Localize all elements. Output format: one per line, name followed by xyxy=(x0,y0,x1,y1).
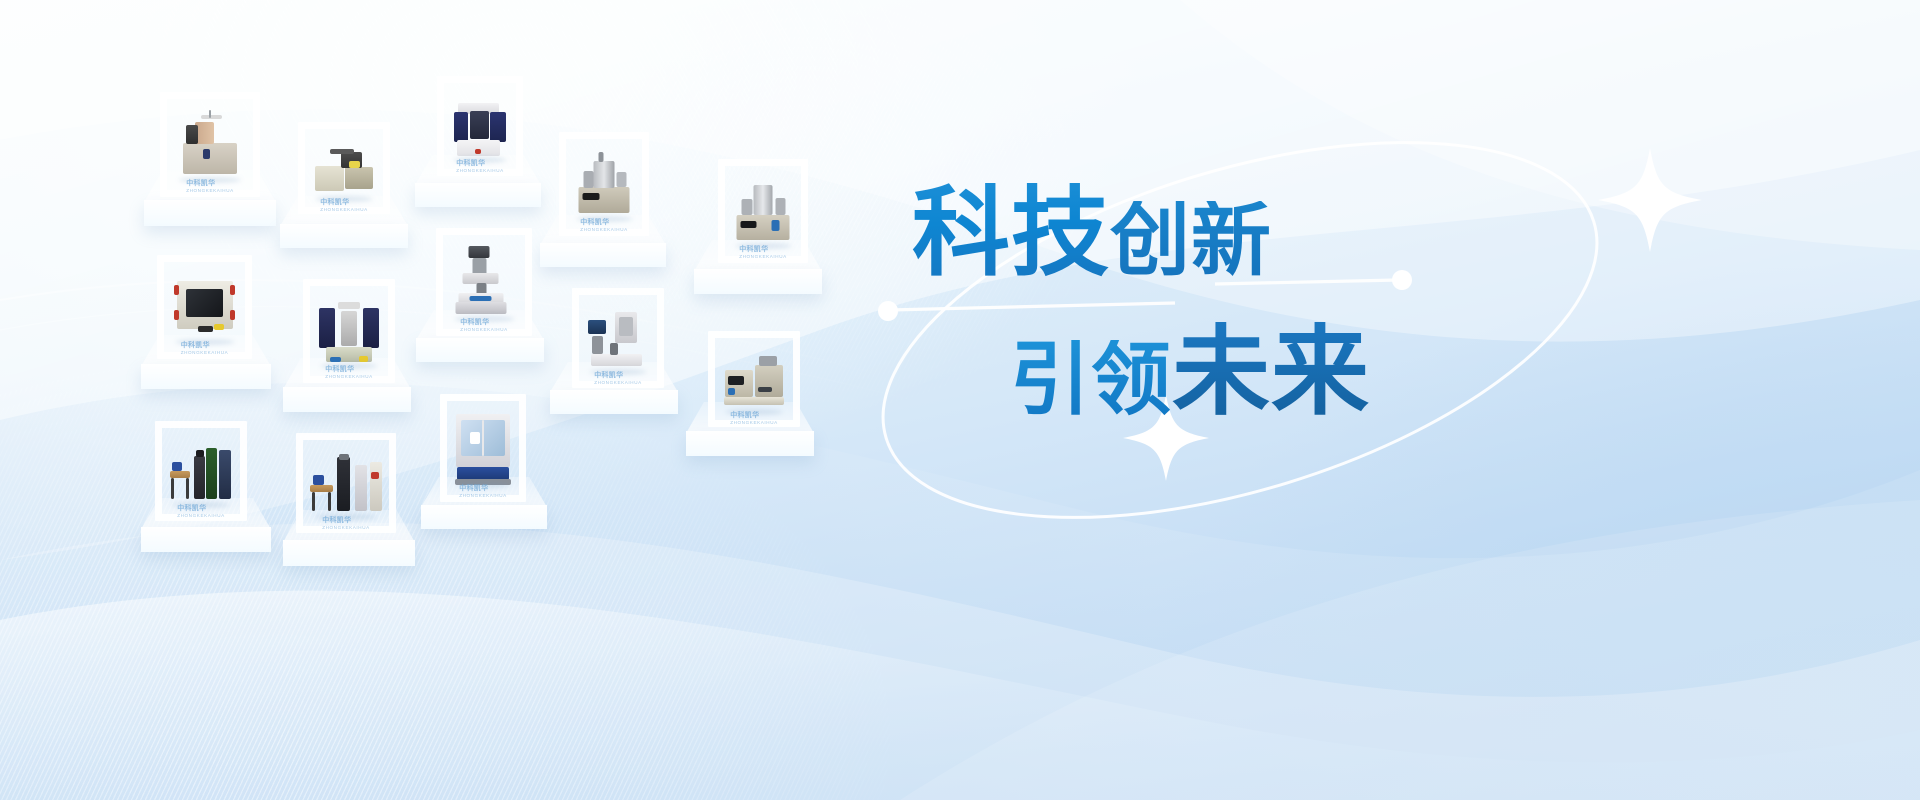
instrument-part xyxy=(599,152,604,162)
instrument-part xyxy=(592,336,603,354)
product-card-friction-wear-tester[interactable]: 中科凯华ZHONGKEKAIHUA xyxy=(437,76,523,176)
instrument-part xyxy=(758,387,772,392)
instrument-part xyxy=(194,456,205,499)
instrument-part xyxy=(186,478,189,499)
instrument-part xyxy=(610,343,618,356)
instrument-part xyxy=(203,149,210,159)
instrument-part xyxy=(456,302,507,314)
headline-line2-strong: 未来 xyxy=(1172,322,1370,420)
instrument-part xyxy=(230,285,236,295)
instrument-part xyxy=(312,492,315,512)
product-card-magnetron-sputtering-system[interactable]: 中科凯华ZHONGKEKAIHUA xyxy=(559,132,649,236)
product-image-friction-wear-tester: 中科凯华ZHONGKEKAIHUA xyxy=(448,90,512,160)
product-card-vacuum-glove-box[interactable]: 中科凯华ZHONGKEKAIHUA xyxy=(440,394,526,502)
instrument-part xyxy=(219,450,231,499)
instrument-part xyxy=(482,420,485,456)
instrument-part xyxy=(195,122,214,144)
product-card-fatigue-testing-system[interactable]: 中科凯华ZHONGKEKAIHUA xyxy=(708,331,800,427)
headline-line-2: 引领 未来 xyxy=(1010,322,1370,420)
instrument-part xyxy=(470,111,489,139)
instrument-part xyxy=(588,320,606,334)
instrument-part xyxy=(759,356,777,367)
instrument-part xyxy=(337,457,350,512)
product-image-environmental-test-chamber: 中科凯华ZHONGKEKAIHUA xyxy=(170,269,240,342)
product-card-thin-film-deposition-unit[interactable]: 中科凯华ZHONGKEKAIHUA xyxy=(718,159,808,263)
instrument-part xyxy=(201,115,222,119)
instrument-part xyxy=(363,308,379,349)
product-watermark: 中科凯华ZHONGKEKAIHUA xyxy=(320,197,368,212)
instrument-part xyxy=(341,311,357,346)
instrument-part xyxy=(174,310,180,320)
instrument-part xyxy=(591,354,643,367)
instrument-part xyxy=(198,326,213,332)
pedestal-face xyxy=(280,224,408,248)
instrument-part xyxy=(454,112,468,141)
instrument-part xyxy=(319,308,335,349)
pedestal-face xyxy=(144,200,276,226)
instrument-part xyxy=(728,388,735,395)
instrument-part xyxy=(170,471,190,478)
product-card-optical-microscope-station[interactable]: 中科凯华ZHONGKEKAIHUA xyxy=(436,228,532,336)
instrument-part xyxy=(196,450,204,457)
headline-line1-light: 创新 xyxy=(1110,201,1272,281)
product-card-universal-testing-machine[interactable]: 中科凯华ZHONGKEKAIHUA xyxy=(303,279,395,383)
instrument-part xyxy=(172,462,182,472)
pedestal-face xyxy=(416,338,544,362)
product-watermark: 中科凯华ZHONGKEKAIHUA xyxy=(580,217,628,232)
product-image-laboratory-workstation-a: 中科凯华ZHONGKEKAIHUA xyxy=(167,435,235,505)
instrument-part xyxy=(584,171,593,189)
instrument-part xyxy=(470,296,491,301)
product-watermark: 中科凯华ZHONGKEKAIHUA xyxy=(181,340,229,355)
product-image-thin-film-deposition-unit: 中科凯华ZHONGKEKAIHUA xyxy=(730,173,797,246)
headline-line1-strong: 科技 xyxy=(912,183,1110,281)
headline-line-1: 科技 创新 xyxy=(912,183,1272,281)
instrument-part xyxy=(171,478,174,499)
instrument-part xyxy=(206,448,217,500)
pedestal-face xyxy=(540,243,666,267)
product-image-vacuum-coating-machine: 中科凯华ZHONGKEKAIHUA xyxy=(173,106,247,180)
instrument-part xyxy=(593,161,614,189)
pedestal-face xyxy=(550,390,678,414)
product-watermark: 中科凯华ZHONGKEKAIHUA xyxy=(186,178,234,193)
product-card-scratch-test-instrument[interactable]: 中科凯华ZHONGKEKAIHUA xyxy=(572,288,664,388)
product-watermark: 中科凯华ZHONGKEKAIHUA xyxy=(594,370,642,385)
product-watermark: 中科凯华ZHONGKEKAIHUA xyxy=(459,483,507,498)
instrument-part xyxy=(214,324,224,330)
pedestal-face xyxy=(283,540,415,566)
instrument-part xyxy=(740,221,756,228)
product-card-laboratory-workstation-a[interactable]: 中科凯华ZHONGKEKAIHUA xyxy=(155,421,247,521)
instrument-part xyxy=(183,143,236,174)
instrument-part xyxy=(328,492,331,512)
instrument-part xyxy=(754,185,773,216)
instrument-part xyxy=(616,172,627,187)
instrument-part xyxy=(724,397,784,405)
instrument-part xyxy=(359,356,369,362)
instrument-part xyxy=(742,199,753,215)
product-image-micro-hardness-tester: 中科凯华ZHONGKEKAIHUA xyxy=(310,135,378,199)
product-image-scratch-test-instrument: 中科凯华ZHONGKEKAIHUA xyxy=(584,302,652,372)
instrument-part xyxy=(174,285,180,295)
instrument-part xyxy=(330,357,341,361)
instrument-part xyxy=(186,289,222,317)
instrument-part xyxy=(371,472,378,479)
instrument-part xyxy=(755,365,782,397)
product-card-micro-hardness-tester[interactable]: 中科凯华ZHONGKEKAIHUA xyxy=(298,122,390,214)
product-image-vacuum-glove-box: 中科凯华ZHONGKEKAIHUA xyxy=(451,409,515,485)
pedestal-face xyxy=(686,431,814,456)
instrument-part xyxy=(775,198,786,216)
instrument-part xyxy=(728,376,744,385)
instrument-part xyxy=(355,465,367,511)
instrument-part xyxy=(349,161,360,169)
headline-line2-light: 引领 xyxy=(1010,340,1172,420)
product-watermark: 中科凯华ZHONGKEKAIHUA xyxy=(322,515,370,530)
product-card-laboratory-workstation-b[interactable]: 中科凯华ZHONGKEKAIHUA xyxy=(296,433,396,533)
instrument-part xyxy=(771,220,779,232)
instrument-part xyxy=(490,112,505,141)
instrument-part xyxy=(370,462,382,511)
product-watermark: 中科凯华ZHONGKEKAIHUA xyxy=(456,158,504,173)
product-card-environmental-test-chamber[interactable]: 中科凯华ZHONGKEKAIHUA xyxy=(157,255,252,359)
instrument-part xyxy=(619,317,633,335)
instrument-part xyxy=(315,166,344,192)
product-image-universal-testing-machine: 中科凯华ZHONGKEKAIHUA xyxy=(315,293,383,366)
product-image-laboratory-workstation-b: 中科凯华ZHONGKEKAIHUA xyxy=(309,447,383,517)
product-watermark: 中科凯华ZHONGKEKAIHUA xyxy=(730,410,778,425)
pedestal-face xyxy=(141,364,271,389)
instrument-part xyxy=(186,125,198,144)
product-image-optical-microscope-station: 中科凯华ZHONGKEKAIHUA xyxy=(449,243,520,319)
pedestal-face xyxy=(141,527,271,552)
product-watermark: 中科凯华ZHONGKEKAIHUA xyxy=(739,244,787,259)
instrument-part xyxy=(583,193,600,200)
product-watermark: 中科凯华ZHONGKEKAIHUA xyxy=(177,503,225,518)
hero-banner: 中科凯华ZHONGKEKAIHUA 中科凯华ZHONGKEKAIHUA 中科凯华… xyxy=(0,0,1920,800)
instrument-part xyxy=(313,475,323,485)
instrument-part xyxy=(330,149,353,154)
pedestal-face xyxy=(415,183,541,207)
instrument-part xyxy=(338,302,360,309)
pedestal-face xyxy=(694,269,822,294)
instrument-part xyxy=(345,167,372,189)
pedestal-face xyxy=(283,387,411,412)
instrument-part xyxy=(230,310,236,320)
product-image-magnetron-sputtering-system: 中科凯华ZHONGKEKAIHUA xyxy=(571,146,638,219)
product-image-fatigue-testing-system: 中科凯华ZHONGKEKAIHUA xyxy=(720,345,788,412)
instrument-part xyxy=(310,485,332,492)
pedestal-face xyxy=(421,505,547,529)
product-card-vacuum-coating-machine[interactable]: 中科凯华ZHONGKEKAIHUA xyxy=(160,92,260,197)
instrument-part xyxy=(470,432,480,444)
instrument-part xyxy=(468,246,489,258)
product-watermark: 中科凯华ZHONGKEKAIHUA xyxy=(325,364,373,379)
instrument-part xyxy=(339,454,349,460)
product-watermark: 中科凯华ZHONGKEKAIHUA xyxy=(460,317,508,332)
